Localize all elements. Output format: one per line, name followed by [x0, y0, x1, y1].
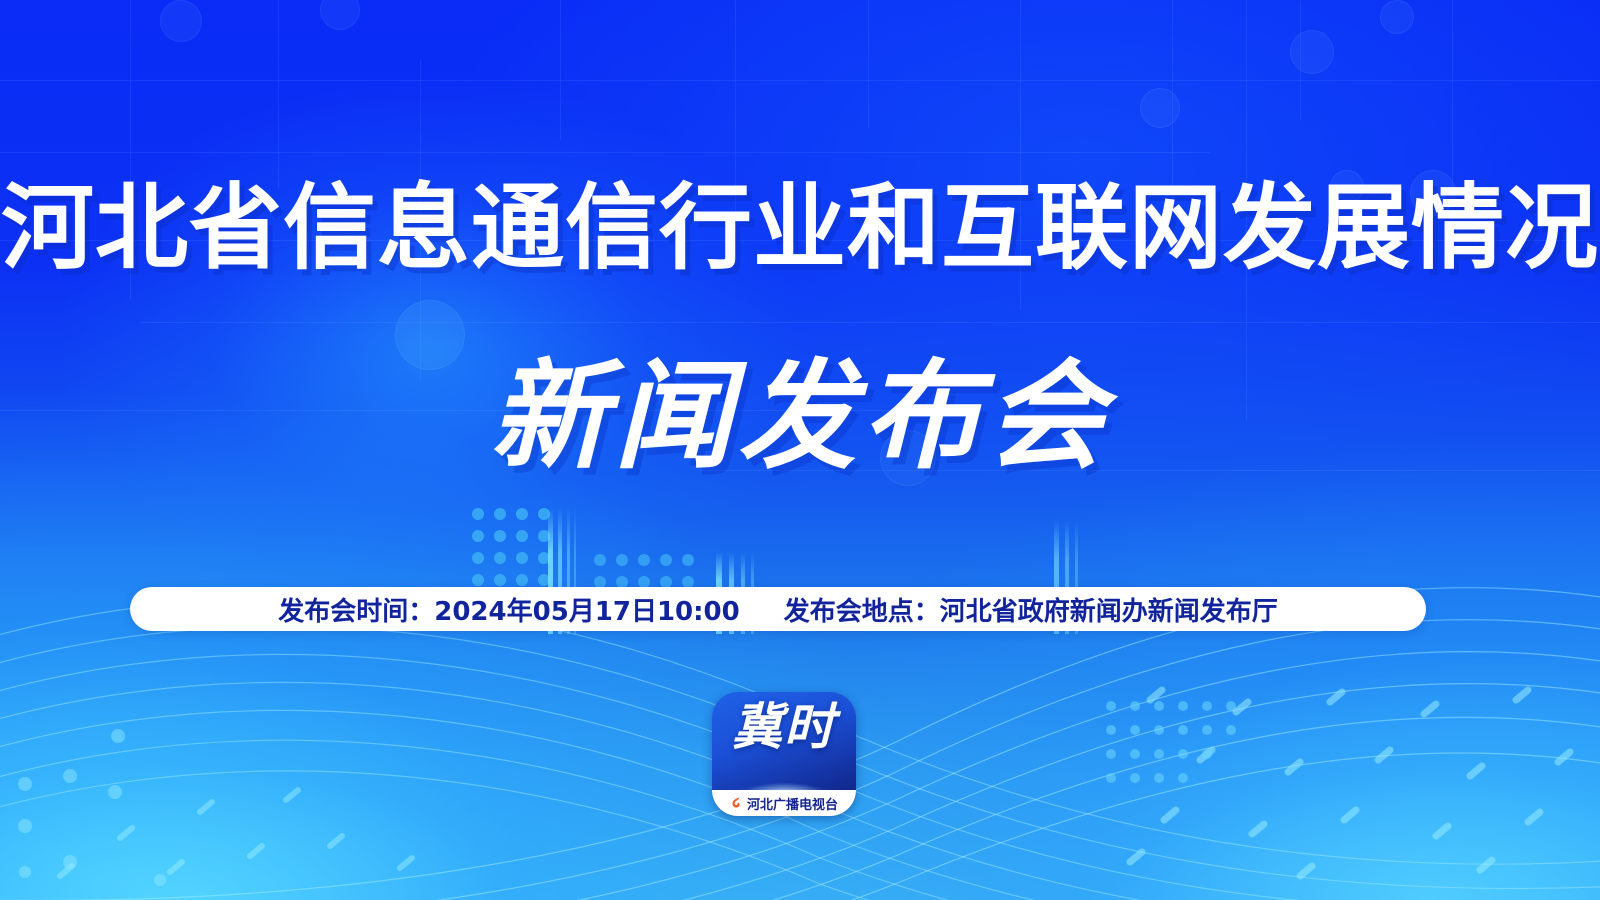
- conference-time: 发布会时间：2024年05月17日10:00: [278, 591, 740, 628]
- station-name: 河北广播电视台: [747, 794, 838, 813]
- logo-station-strip: 河北广播电视台: [712, 790, 856, 816]
- page-title: 河北省信息通信行业和互联网发展情况: [0, 178, 1600, 278]
- dot-matrix-right-top: [1105, 700, 1255, 810]
- tv-flame-icon: [730, 796, 744, 810]
- conference-place: 发布会地点：河北省政府新闻办新闻发布厅: [784, 591, 1278, 628]
- news-conference-poster: 河北省信息通信行业和互联网发展情况 新闻发布会 发布会时间：2024年05月17…: [0, 0, 1600, 900]
- page-subtitle: 新闻发布会: [0, 352, 1600, 482]
- logo-wordmark: 冀时: [712, 702, 856, 752]
- conference-info-bar: 发布会时间：2024年05月17日10:00 发布会地点：河北省政府新闻办新闻发…: [130, 587, 1426, 631]
- broadcaster-logo: 冀时 河北广播电视台: [712, 692, 856, 816]
